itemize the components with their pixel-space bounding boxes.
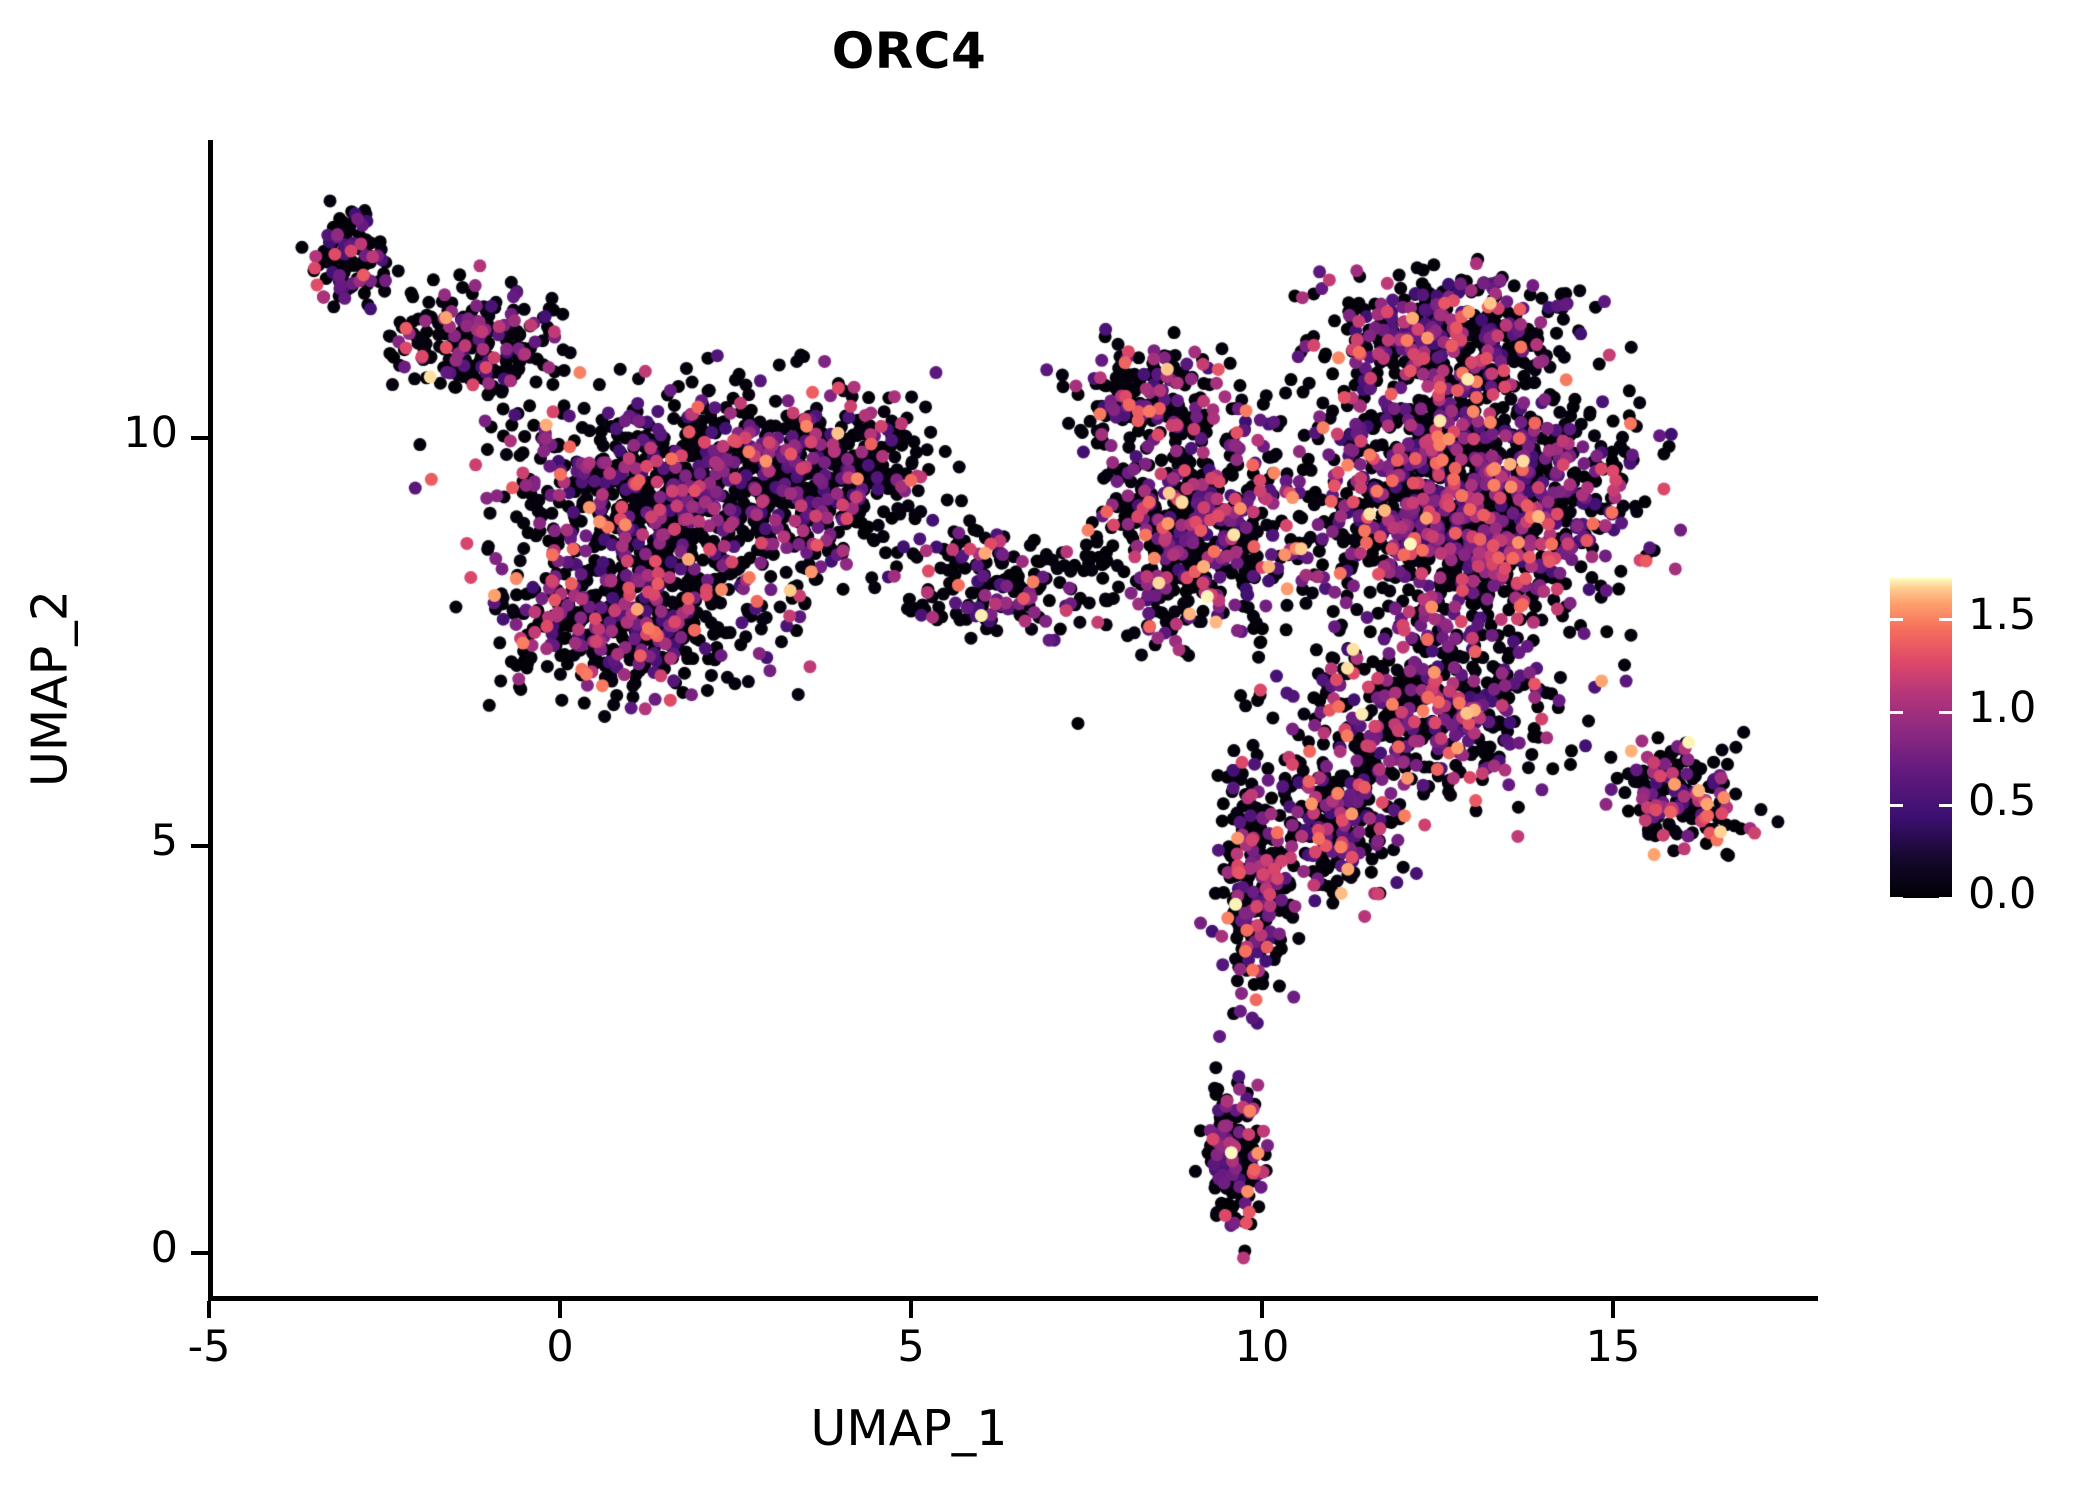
x-tick-label: 0	[480, 1322, 640, 1372]
y-tick-mark	[191, 436, 208, 440]
colorbar-tick-mark	[1939, 804, 1952, 807]
scatter-plot-canvas	[0, 0, 2100, 1500]
colorbar-tick-label: 1.0	[1968, 683, 2036, 733]
y-tick-mark	[191, 1251, 208, 1255]
colorbar-tick-mark	[1890, 618, 1903, 621]
x-tick-mark	[1260, 1301, 1264, 1318]
colorbar-tick-label: 0.0	[1968, 869, 2036, 919]
colorbar-gradient	[1890, 578, 1952, 898]
colorbar-tick-mark	[1939, 618, 1952, 621]
x-tick-label: 15	[1533, 1322, 1693, 1372]
colorbar-tick-mark	[1939, 897, 1952, 900]
x-tick-mark	[1611, 1301, 1615, 1318]
y-axis-spine	[208, 140, 213, 1300]
colorbar-tick-label: 0.5	[1968, 776, 2036, 826]
y-tick-label: 0	[0, 1223, 178, 1273]
x-tick-mark	[909, 1301, 913, 1318]
x-tick-mark	[207, 1301, 211, 1318]
colorbar-tick-label: 1.5	[1968, 590, 2036, 640]
colorbar-tick-mark	[1890, 711, 1903, 714]
x-tick-mark	[558, 1301, 562, 1318]
x-axis-spine	[208, 1296, 1818, 1301]
colorbar-tick-mark	[1890, 804, 1903, 807]
x-tick-label: 10	[1182, 1322, 1342, 1372]
x-tick-label: -5	[129, 1322, 289, 1372]
y-tick-label: 10	[0, 408, 178, 458]
umap-feature-plot: ORC4 -50510150510 UMAP_1 UMAP_2 0.00.51.…	[0, 0, 2100, 1500]
y-axis-label: UMAP_2	[22, 489, 79, 889]
colorbar-tick-mark	[1890, 897, 1903, 900]
x-axis-label: UMAP_1	[0, 1400, 1818, 1457]
colorbar-tick-mark	[1939, 711, 1952, 714]
x-tick-label: 5	[831, 1322, 991, 1372]
y-tick-mark	[191, 844, 208, 848]
